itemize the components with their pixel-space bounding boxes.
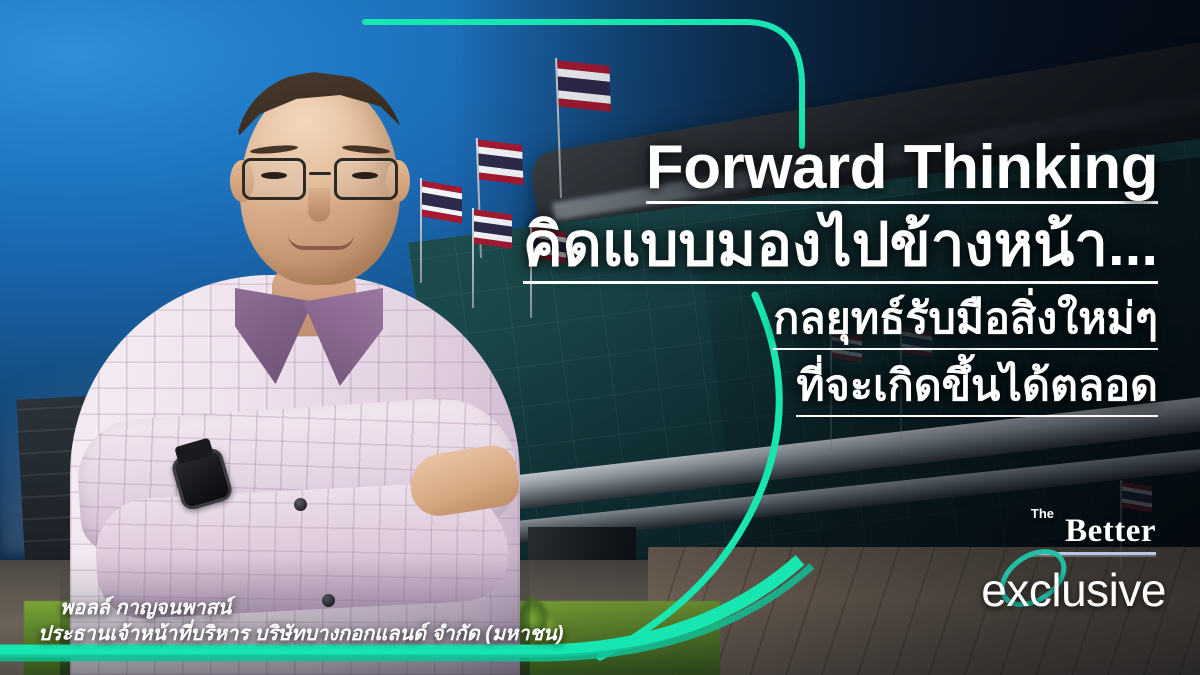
eye-left <box>261 172 287 179</box>
mouth-smile <box>288 234 354 250</box>
thumbnail-canvas: Forward Thinking คิดแบบมองไปข้างหน้า... … <box>0 0 1200 675</box>
headline-block: Forward Thinking คิดแบบมองไปข้างหน้า... … <box>518 136 1158 417</box>
subject-portrait <box>60 20 530 675</box>
brand-logo: The Better exclusive <box>972 503 1172 613</box>
nose <box>308 188 330 222</box>
headline-thai-3: ที่จะเกิดขึ้นได้ตลอด <box>796 359 1158 417</box>
logo-exclusive-text: exclusive <box>981 567 1166 613</box>
headline-english: Forward Thinking <box>646 136 1158 204</box>
shirt-button <box>294 498 307 511</box>
speaker-role: ประธานเจ้าหน้าที่บริหาร บริษัทบางกอกแลนด… <box>38 621 563 647</box>
headline-thai-2: กลยุทธ์รับมือสิ่งใหม่ๆ <box>773 292 1158 350</box>
glasses-bridge <box>309 172 331 175</box>
logo-better-text: Better <box>1065 515 1156 548</box>
speaker-name: พอลล์ กาญจนพาสน์ <box>38 595 563 621</box>
lens-right <box>334 158 398 200</box>
logo-the-text: The <box>1031 507 1054 520</box>
headline-thai-1: คิดแบบมองไปข้างหน้า... <box>523 208 1158 284</box>
speaker-caption: พอลล์ กาญจนพาสน์ ประธานเจ้าหน้าที่บริหาร… <box>38 595 563 647</box>
eye-right <box>352 172 378 179</box>
lens-left <box>242 158 306 200</box>
